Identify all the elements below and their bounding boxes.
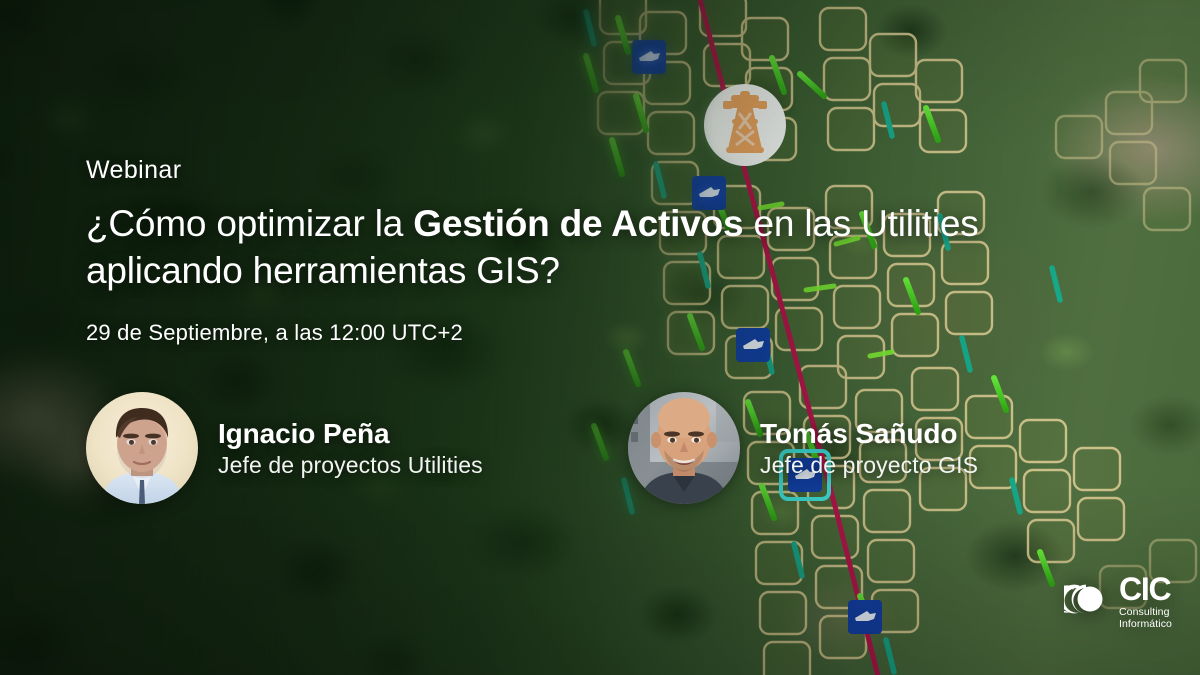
page-title: ¿Cómo optimizar la Gestión de Activos en… <box>86 200 1046 295</box>
cic-tagline-line-1: Consulting <box>1119 607 1172 618</box>
headline-emphasis: Gestión de Activos <box>413 203 743 244</box>
avatar-tomas-sanudo <box>628 392 740 504</box>
speaker-card-1: Ignacio Peña Jefe de proyectos Utilities <box>86 392 483 504</box>
speaker-2-role: Jefe de proyecto GIS <box>760 452 978 479</box>
cic-wordmark: CIC <box>1119 573 1172 605</box>
cic-logo-words: CIC Consulting Informático <box>1119 573 1172 629</box>
speaker-1-text: Ignacio Peña Jefe de proyectos Utilities <box>218 418 483 479</box>
speaker-1-role: Jefe de proyectos Utilities <box>218 452 483 479</box>
cic-logo: CIC Consulting Informático <box>1064 573 1172 629</box>
banner-content: Webinar ¿Cómo optimizar la Gestión de Ac… <box>0 0 1200 675</box>
avatar-ignacio-pena <box>86 392 198 504</box>
cic-tagline-line-2: Informático <box>1119 619 1172 630</box>
webinar-datetime: 29 de Septiembre, a las 12:00 UTC+2 <box>86 320 463 346</box>
speaker-1-name: Ignacio Peña <box>218 418 483 450</box>
eyebrow-label: Webinar <box>86 156 181 185</box>
webinar-banner: Webinar ¿Cómo optimizar la Gestión de Ac… <box>0 0 1200 675</box>
cic-logo-mark-icon <box>1064 576 1110 627</box>
headline-part-1: ¿Cómo optimizar la <box>86 203 413 244</box>
speaker-2-text: Tomás Sañudo Jefe de proyecto GIS <box>760 418 978 479</box>
speaker-card-2: Tomás Sañudo Jefe de proyecto GIS <box>628 392 978 504</box>
speaker-2-name: Tomás Sañudo <box>760 418 978 450</box>
